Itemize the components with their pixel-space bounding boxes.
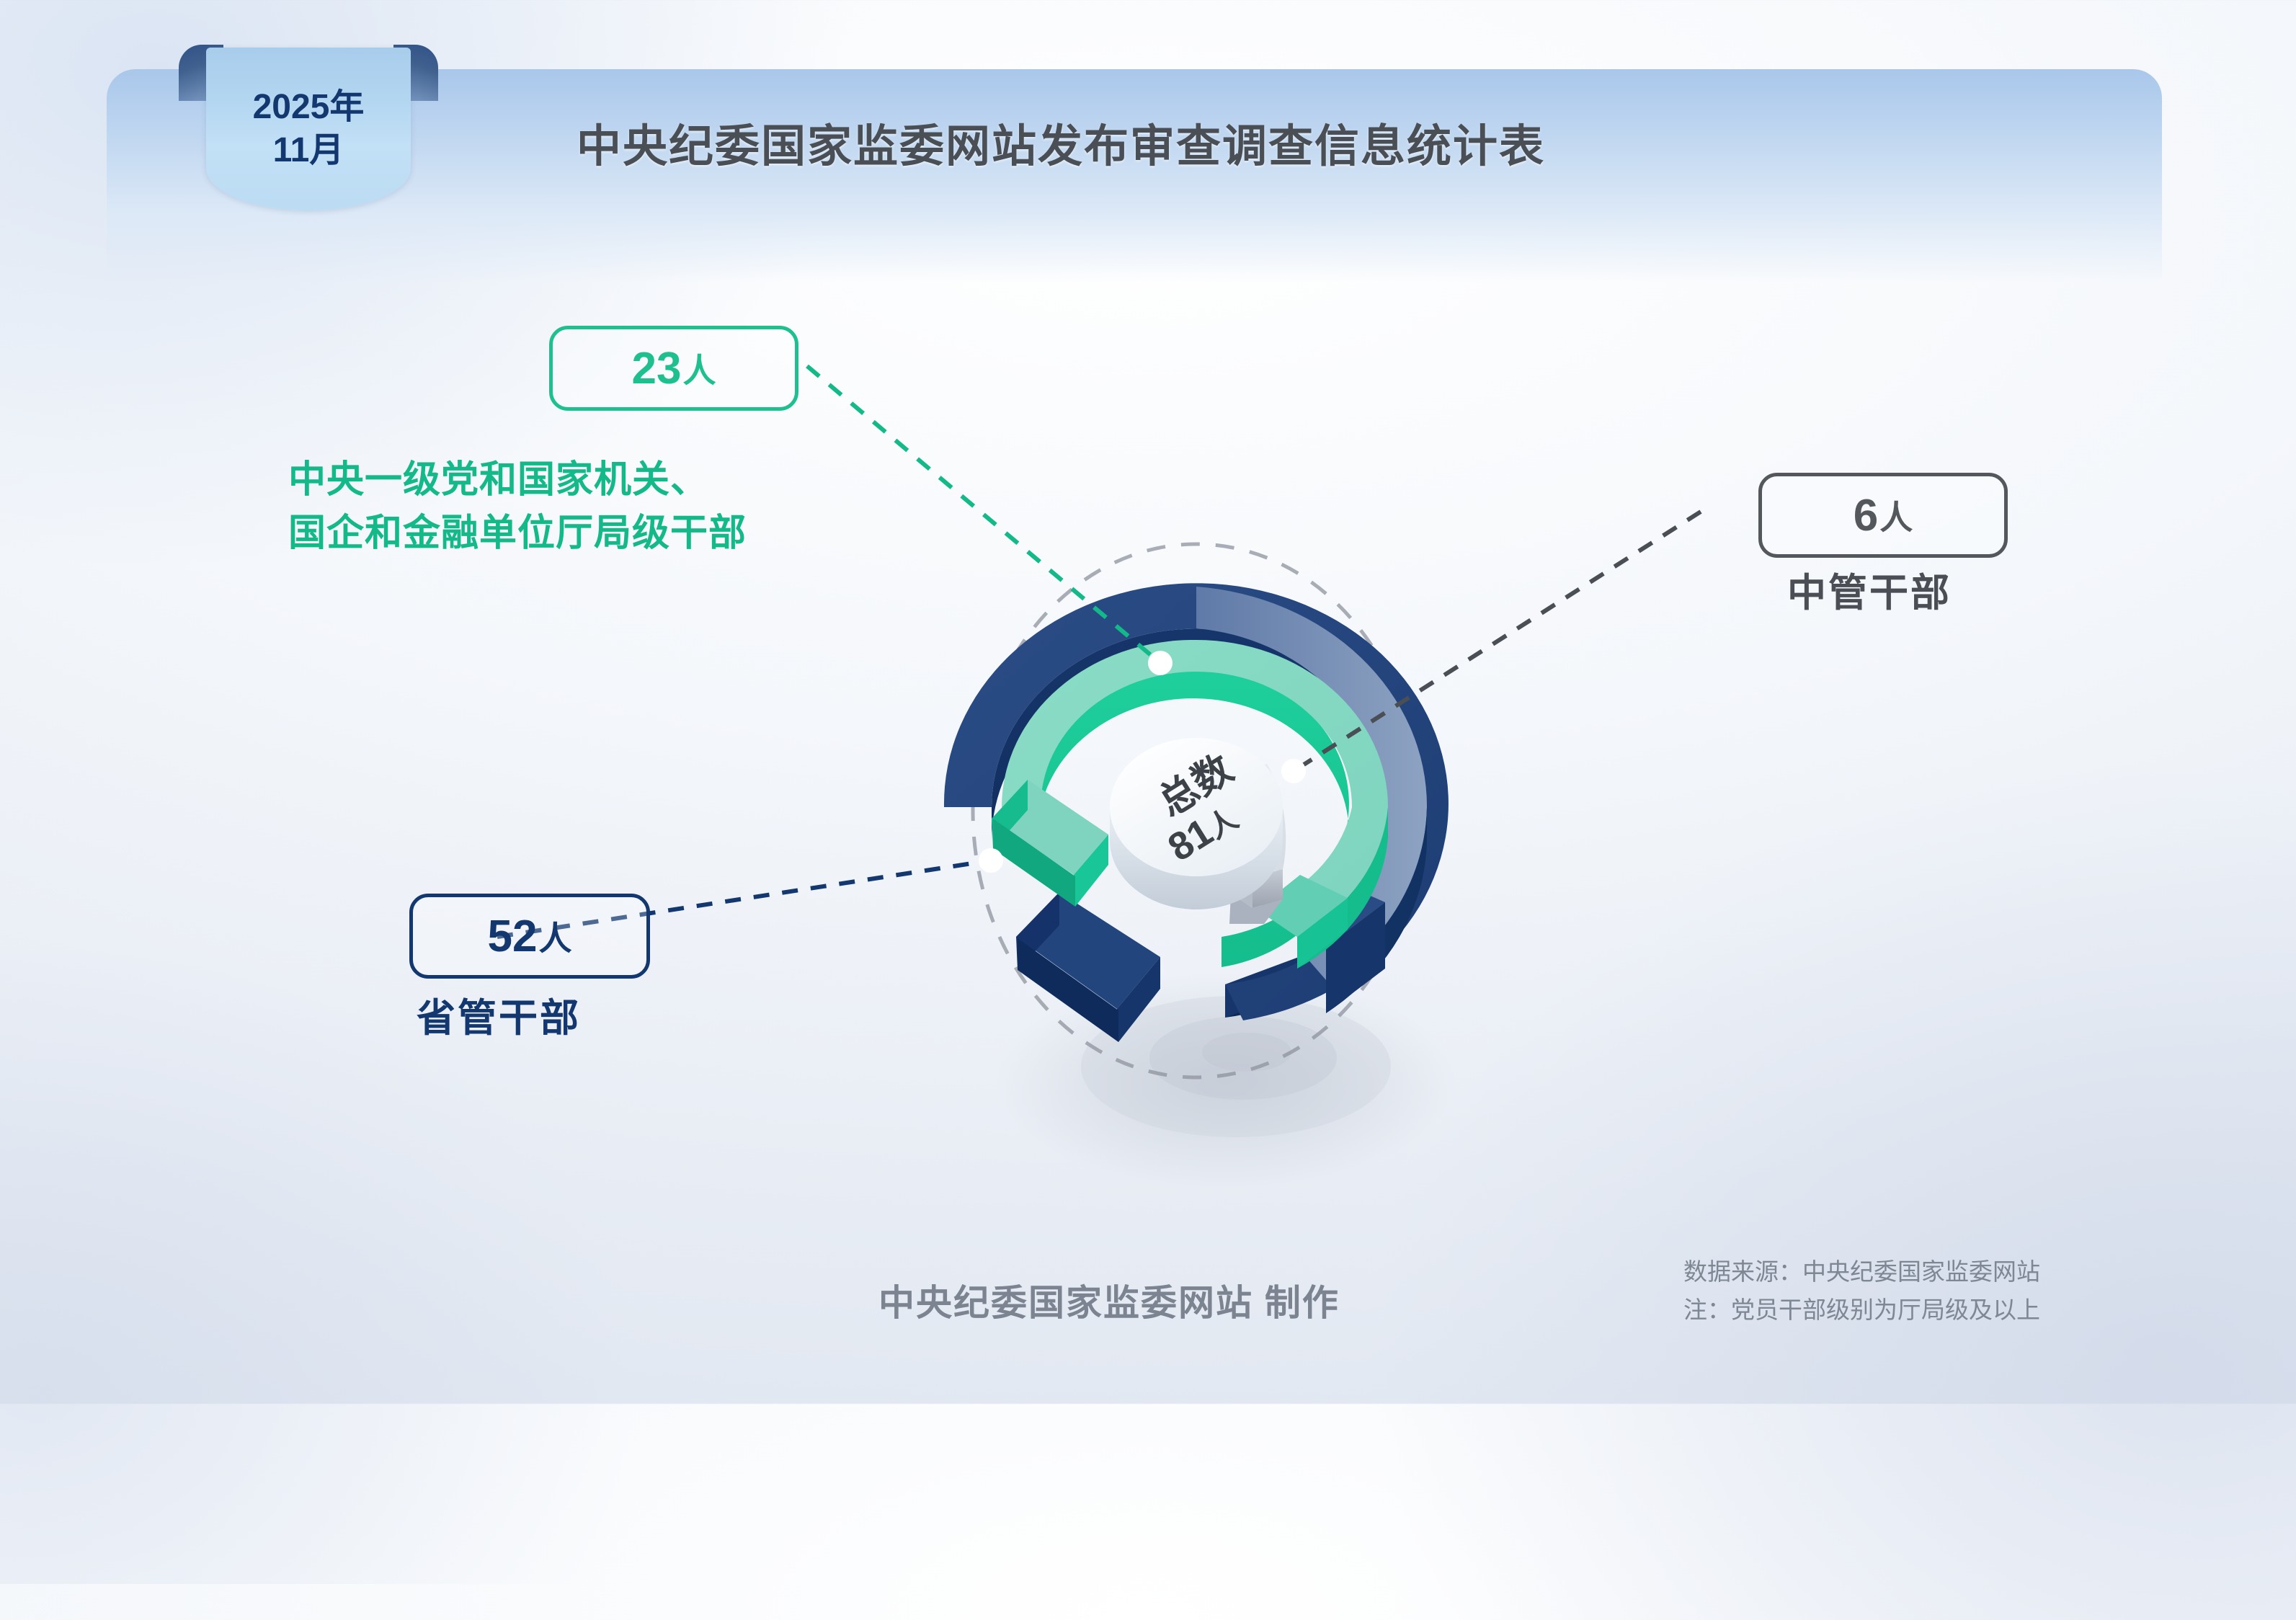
- chart-svg: 总数 81人: [822, 432, 1585, 1240]
- callout-central[interactable]: 23 人: [549, 326, 798, 411]
- donut-chart-3d: 总数 81人: [822, 432, 1585, 1240]
- callout-shengguan-unit: 人: [538, 912, 571, 960]
- date-ribbon: 2025年 11月: [179, 45, 438, 210]
- callout-central-description-line2: 国企和金融单位厅局级干部: [288, 507, 747, 561]
- date-month: 11月: [273, 129, 344, 172]
- ribbon-text: 2025年 11月: [206, 48, 411, 210]
- callout-central-number: 23: [632, 343, 682, 394]
- anchor-dot-central: [1148, 651, 1173, 675]
- center-disc: 总数 81人: [1110, 738, 1283, 909]
- callout-zhongguan-number: 6: [1854, 490, 1878, 541]
- callout-central-unit: 人: [682, 344, 716, 392]
- callout-zhongguan[interactable]: 6 人: [1758, 473, 2008, 558]
- callout-shengguan-label: 省管干部: [417, 986, 581, 1043]
- anchor-dot-shengguan: [979, 848, 1003, 873]
- anchor-dot-zhongguan: [1281, 759, 1306, 783]
- producer-credit: 中央纪委国家监委网站 制作: [878, 1274, 1340, 1326]
- callout-shengguan[interactable]: 52 人: [409, 894, 650, 979]
- callout-central-description-line1: 中央一级党和国家机关、: [288, 454, 747, 507]
- level-note: 注：党员干部级别为厅局级及以上: [1683, 1292, 2040, 1330]
- callout-shengguan-number: 52: [488, 911, 538, 962]
- callout-zhongguan-unit: 人: [1879, 491, 1913, 539]
- callout-zhongguan-label: 中管干部: [1787, 561, 1952, 618]
- data-source-note: 数据来源：中央纪委国家监委网站: [1683, 1254, 2040, 1292]
- page-title: 中央纪委国家监委网站发布审查调查信息统计表: [577, 110, 1545, 174]
- leader-line-central: [807, 366, 1160, 663]
- callout-central-description: 中央一级党和国家机关、 国企和金融单位厅局级干部: [288, 454, 747, 561]
- date-year: 2025年: [253, 86, 365, 129]
- footnotes: 数据来源：中央纪委国家监委网站 注：党员干部级别为厅局级及以上: [1683, 1254, 2040, 1331]
